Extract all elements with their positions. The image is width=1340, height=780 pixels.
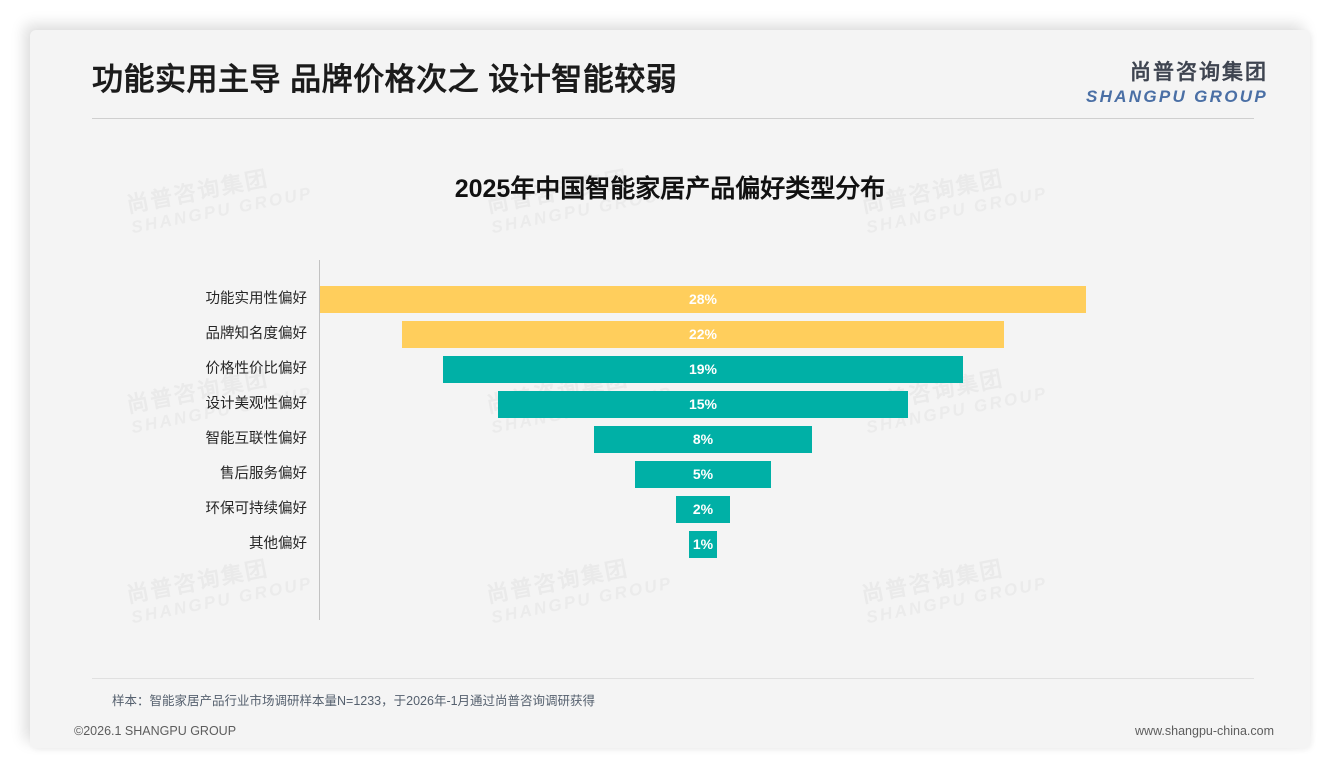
category-label: 价格性价比偏好 — [30, 352, 307, 387]
slide-header: 功能实用主导 品牌价格次之 设计智能较弱 尚普咨询集团 SHANGPU GROU… — [30, 30, 1310, 118]
category-label: 其他偏好 — [30, 527, 307, 562]
category-label: 智能互联性偏好 — [30, 422, 307, 457]
chart-row: 品牌知名度偏好22% — [30, 317, 1310, 352]
slide-canvas: 尚普咨询集团SHANGPU GROUP尚普咨询集团SHANGPU GROUP尚普… — [30, 30, 1310, 748]
category-label: 环保可持续偏好 — [30, 492, 307, 527]
category-label: 品牌知名度偏好 — [30, 317, 307, 352]
bar-value-label: 5% — [643, 461, 763, 488]
category-label: 售后服务偏好 — [30, 457, 307, 492]
bar-value-label: 2% — [643, 496, 763, 523]
footnote-text: 样本：智能家居产品行业市场调研样本量N=1233，于2026年-1月通过尚普咨询… — [112, 690, 595, 709]
footnote-divider — [92, 678, 1254, 679]
chart-row: 环保可持续偏好2% — [30, 492, 1310, 527]
bar-value-label: 8% — [643, 426, 763, 453]
bar-value-label: 1% — [643, 531, 763, 558]
footer-copyright: ©2026.1 SHANGPU GROUP — [74, 724, 236, 738]
logo-chinese-text: 尚普咨询集团 — [1086, 62, 1268, 83]
category-label: 设计美观性偏好 — [30, 387, 307, 422]
bar-value-label: 22% — [643, 321, 763, 348]
title-divider — [92, 118, 1254, 119]
chart-row: 设计美观性偏好15% — [30, 387, 1310, 422]
logo-english-text: SHANGPU GROUP — [1086, 88, 1268, 105]
bar-value-label: 28% — [643, 286, 763, 313]
bar-value-label: 19% — [643, 356, 763, 383]
chart-row: 功能实用性偏好28% — [30, 282, 1310, 317]
chart-row: 其他偏好1% — [30, 527, 1310, 562]
company-logo: 尚普咨询集团 SHANGPU GROUP — [1086, 62, 1268, 105]
footer-website[interactable]: www.shangpu-china.com — [1135, 724, 1274, 738]
category-label: 功能实用性偏好 — [30, 282, 307, 317]
bar-value-label: 15% — [643, 391, 763, 418]
chart-title: 2025年中国智能家居产品偏好类型分布 — [30, 169, 1310, 205]
chart-row: 售后服务偏好5% — [30, 457, 1310, 492]
page-title: 功能实用主导 品牌价格次之 设计智能较弱 — [92, 54, 677, 99]
chart-row: 价格性价比偏好19% — [30, 352, 1310, 387]
chart-row: 智能互联性偏好8% — [30, 422, 1310, 457]
slide-footer: ©2026.1 SHANGPU GROUP www.shangpu-china.… — [30, 713, 1310, 748]
funnel-bar-chart: 功能实用性偏好28%品牌知名度偏好22%价格性价比偏好19%设计美观性偏好15%… — [30, 260, 1310, 660]
